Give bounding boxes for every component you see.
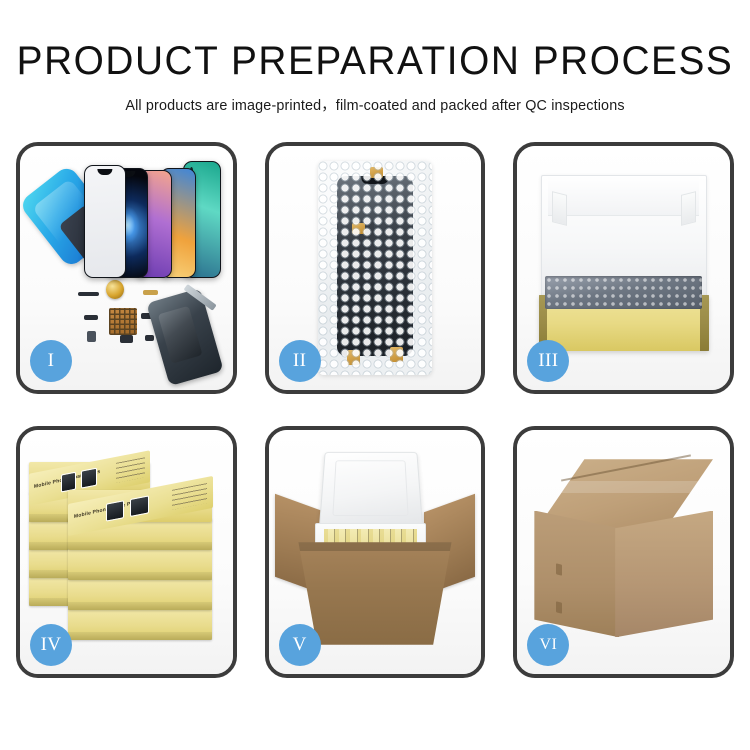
process-panel-4[interactable]: Mobile Phone Spare Parts Mobile Phone Sp…: [16, 426, 237, 678]
connector-part-icon: [143, 290, 158, 295]
stacked-box-top-right: Mobile Phone Spare Parts: [68, 490, 213, 522]
product-thumbnail-icon: [81, 468, 97, 489]
process-panel-3[interactable]: III Yellow inner box with white lid hold…: [513, 142, 734, 394]
page-title: PRODUCT PREPARATION PROCESS: [11, 40, 739, 82]
panel-badge-4: IV: [30, 624, 72, 666]
bubble-wrapped-units-icon: [545, 276, 702, 310]
packing-tape-icon: [556, 601, 562, 614]
phone-screen-white-icon: [84, 165, 126, 277]
speaker-part-icon: [120, 335, 133, 343]
box-spec-lines: [116, 457, 145, 482]
carton-right-face: [615, 511, 713, 638]
process-panel-1[interactable]: I Phone display assemblies fanned out wi…: [16, 142, 237, 394]
process-panel-6[interactable]: VI Sealed brown shipping carton ready fo…: [513, 426, 734, 678]
chip-grid-icon: [109, 308, 137, 335]
phone-screen-fan: [84, 161, 224, 278]
carton-left-face: [534, 511, 619, 638]
product-thumbnail-icon: [105, 500, 124, 522]
packing-tape-icon: [556, 563, 562, 576]
panel-badge-2: II: [279, 340, 321, 382]
outer-carton-icon: [298, 542, 451, 644]
product-preparation-infographic: PRODUCT PREPARATION PROCESS All products…: [0, 0, 750, 750]
process-panel-2[interactable]: II Single screen assembly sealed in bubb…: [265, 142, 486, 394]
foam-lid-icon: [319, 452, 423, 527]
flex-cable-icon: [78, 292, 99, 296]
lid-flap-right: [681, 191, 696, 226]
small-bracket-icon: [84, 315, 98, 320]
header: PRODUCT PREPARATION PROCESS All products…: [0, 0, 750, 115]
stacked-box: [68, 578, 213, 610]
page-subtitle: All products are image-printed，film-coat…: [4, 94, 747, 115]
stacked-box: [68, 608, 213, 640]
bubble-texture: [318, 161, 433, 376]
gold-coin-part-icon: [106, 280, 124, 299]
spare-parts-cluster: [75, 278, 215, 380]
yellow-tray-icon: [539, 295, 709, 351]
lid-flap-left: [552, 191, 567, 226]
screw-set-icon: [145, 335, 153, 341]
process-grid: I Phone display assemblies fanned out wi…: [16, 142, 734, 678]
stacked-box: [68, 548, 213, 580]
bubble-wrap-bag-icon: [318, 161, 433, 376]
box-spec-lines: [172, 483, 207, 510]
panel-badge-1: I: [30, 340, 72, 382]
camera-module-icon: [87, 331, 97, 342]
yellow-box-stack-icon: Mobile Phone Spare Parts Mobile Phone Sp…: [29, 452, 225, 652]
product-thumbnail-icon: [130, 495, 149, 517]
panel-badge-5: V: [279, 624, 321, 666]
process-panel-5[interactable]: V Outer carton with foam cooler packed w…: [265, 426, 486, 678]
